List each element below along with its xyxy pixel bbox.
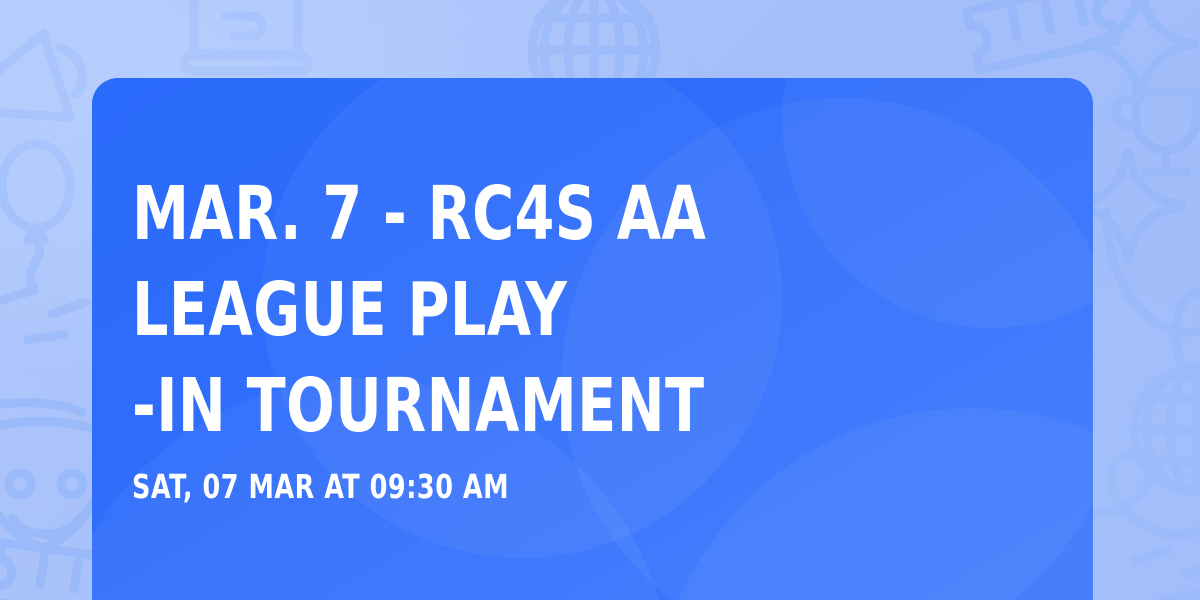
event-card-body: Mar. 7 - RC4S AA League Play -In Tournam…: [132, 78, 1053, 600]
event-datetime: Sat, 07 Mar at 09:30 AM: [132, 467, 509, 507]
event-title: Mar. 7 - RC4S AA League Play -In Tournam…: [132, 166, 923, 454]
event-card[interactable]: Mar. 7 - RC4S AA League Play -In Tournam…: [92, 78, 1093, 600]
event-poster: Mar. 7 - RC4S AA League Play -In Tournam…: [0, 0, 1200, 600]
